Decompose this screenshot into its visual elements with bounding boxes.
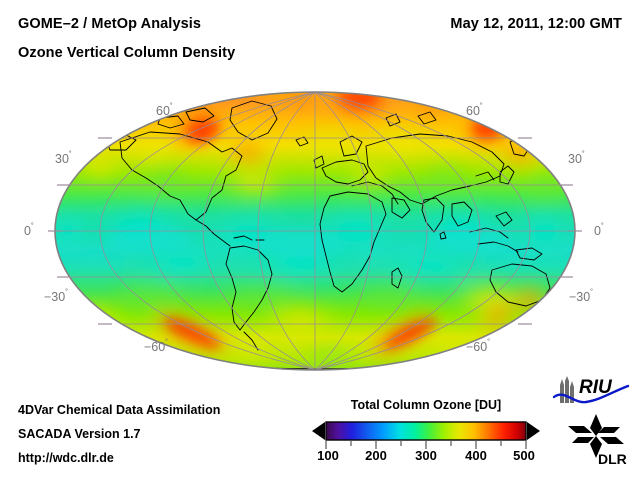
riu-wordmark: RIU [579, 377, 613, 398]
lat-label-left-0: 0˚ [24, 224, 34, 238]
riu-logo: RIU [552, 376, 632, 410]
lat-label-left-30: 30˚ [55, 152, 72, 166]
ozone-field [40, 83, 584, 378]
colorbar-left-arrow [312, 422, 325, 440]
colorbar-right-arrow [527, 422, 540, 440]
lat-label-left-60: 60˚ [156, 104, 173, 118]
colorbar: Total Column Ozone [DU] [312, 398, 540, 476]
colorbar-gradient [326, 422, 526, 440]
lat-label-left-minus30: −30˚ [44, 290, 68, 304]
footer-method: 4DVar Chemical Data Assimilation [18, 403, 220, 417]
colorbar-tick-400: 400 [465, 448, 487, 463]
footer-version: SACADA Version 1.7 [18, 427, 141, 441]
colorbar-title: Total Column Ozone [DU] [312, 398, 540, 412]
colorbar-tick-300: 300 [415, 448, 437, 463]
lat-label-right-60: 60˚ [466, 104, 483, 118]
lat-label-left-minus60: −60˚ [144, 340, 168, 354]
colorbar-tick-labels: 100 200 300 400 500 [312, 448, 540, 468]
dlr-wordmark: DLR [598, 451, 627, 466]
footer-url: http://wdc.dlr.de [18, 451, 114, 465]
colorbar-tick-100: 100 [317, 448, 339, 463]
lat-label-right-0: 0˚ [594, 224, 604, 238]
lat-label-right-minus30: −30˚ [569, 290, 593, 304]
ozone-map-figure: GOME–2 / MetOp Analysis Ozone Vertical C… [0, 0, 640, 480]
colorbar-tick-500: 500 [513, 448, 535, 463]
colorbar-svg [312, 420, 540, 450]
colorbar-tick-200: 200 [365, 448, 387, 463]
lat-label-right-30: 30˚ [568, 152, 585, 166]
dlr-logo: DLR [562, 414, 636, 466]
lat-label-right-minus60: −60˚ [466, 340, 490, 354]
